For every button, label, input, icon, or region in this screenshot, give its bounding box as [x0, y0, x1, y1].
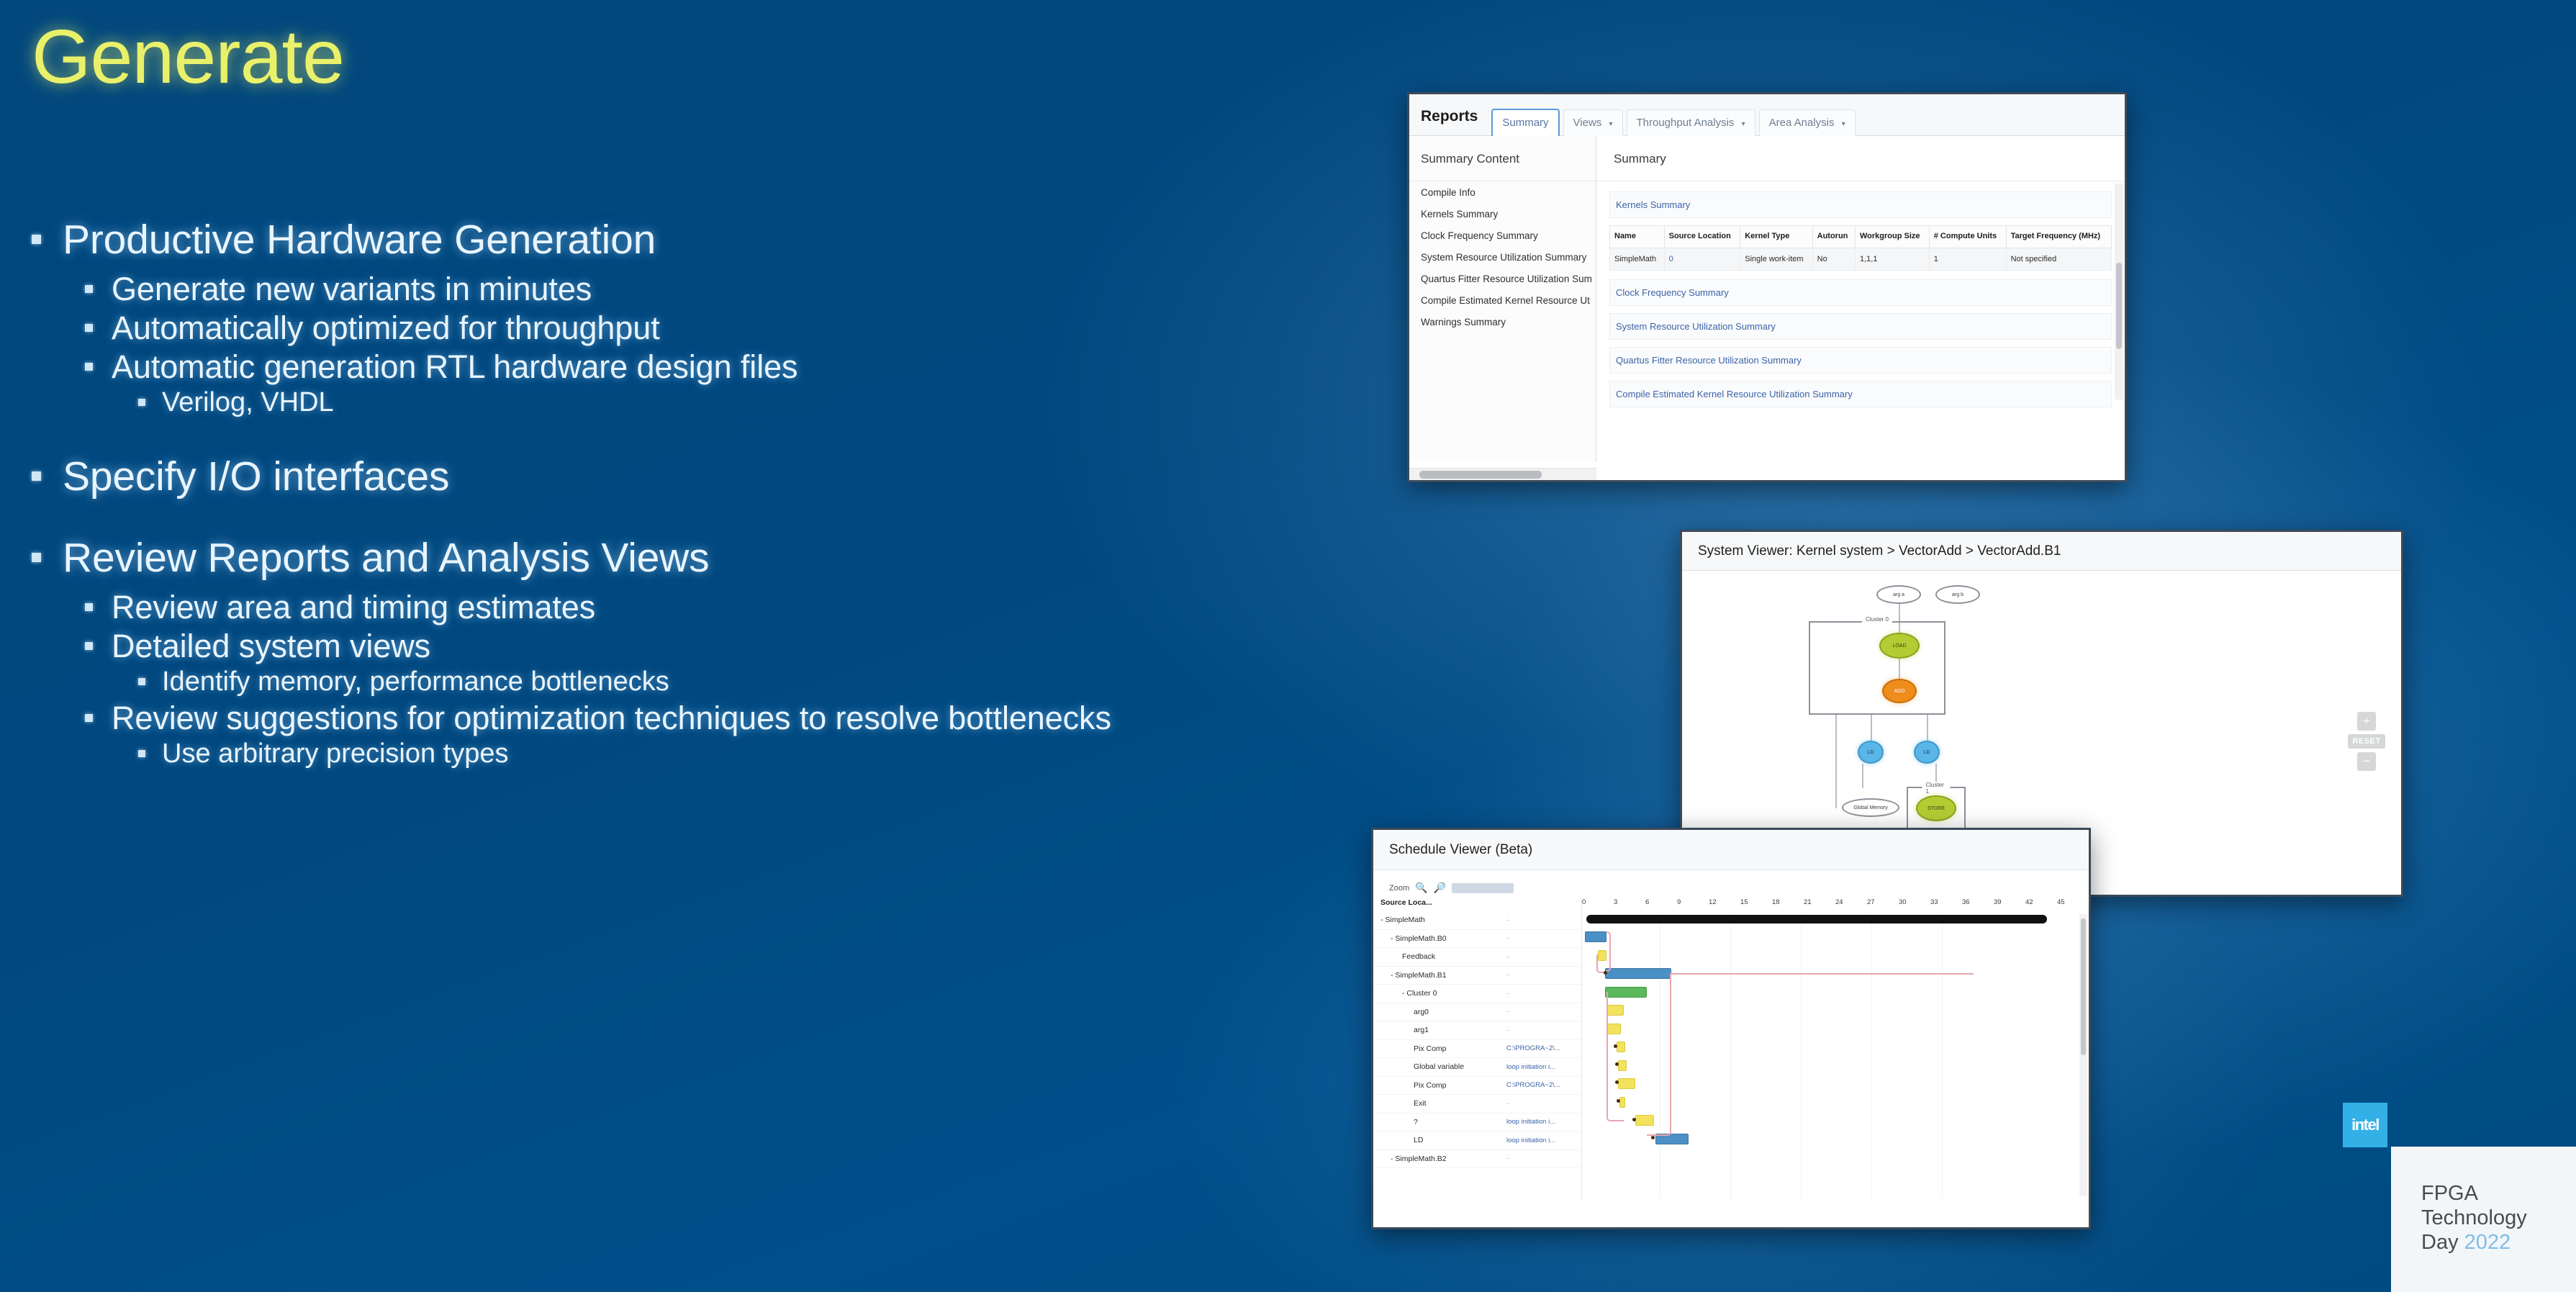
- zoom-in-icon[interactable]: +: [2357, 712, 2376, 731]
- connector-dot: [1651, 1136, 1655, 1139]
- tick-label: 18: [1772, 898, 1804, 913]
- timeline-bar: [1586, 915, 2047, 923]
- system-viewer-header: System Viewer: Kernel system > VectorAdd…: [1682, 532, 2401, 571]
- chevron-down-icon: ▾: [1742, 120, 1745, 128]
- col-name: Name: [1610, 226, 1665, 248]
- edge: [1871, 715, 1872, 742]
- node-global-memory[interactable]: Global Memory: [1842, 798, 1899, 817]
- sidebar-item-clock-frequency-summary[interactable]: Clock Frequency Summary: [1409, 225, 1596, 246]
- connector-dot: [1614, 1044, 1617, 1048]
- bullet-square-icon: [138, 750, 145, 757]
- row-source: -: [1506, 934, 1581, 942]
- bullet-square-icon: [85, 285, 93, 293]
- col-workgroup-size: Workgroup Size: [1855, 226, 1929, 248]
- node-store[interactable]: STORE: [1916, 795, 1956, 821]
- gantt-bar[interactable]: [1585, 931, 1606, 942]
- row-source[interactable]: C:\PROGRA~2\...: [1506, 1044, 1581, 1052]
- summary-panel-content: Kernels Summary Name Source Location Ker…: [1596, 181, 2125, 407]
- brand-line-3: Day 2022: [2421, 1230, 2576, 1255]
- list-item[interactable]: arg0-: [1373, 1003, 1581, 1022]
- edge: [1927, 715, 1928, 742]
- edge: [1862, 764, 1863, 788]
- row-name: SimpleMath.B0: [1395, 934, 1446, 943]
- row-source: -: [1506, 1155, 1581, 1162]
- bullet-text: Review area and timing estimates: [112, 588, 595, 627]
- row-source: -: [1506, 1100, 1581, 1108]
- bullet-level2: Automatic generation RTL hardware design…: [32, 348, 1385, 387]
- bullet-level3: Identify memory, performance bottlenecks: [32, 666, 1385, 699]
- zoom-out-icon[interactable]: 🔎: [1434, 882, 1446, 894]
- brand-line-1: FPGA: [2421, 1181, 2576, 1206]
- schedule-viewer-window[interactable]: Schedule Viewer (Beta) Zoom 🔍 🔎 Source L…: [1371, 828, 2091, 1229]
- section-link-compile-estimated[interactable]: Compile Estimated Kernel Resource Utiliz…: [1609, 381, 2112, 407]
- list-item[interactable]: Pix CompC:\PROGRA~2\...: [1373, 1077, 1581, 1096]
- schedule-row-labels: Source Loca... - SimpleMath- - SimpleMat…: [1373, 898, 1582, 1199]
- tab-label: Summary: [1502, 117, 1548, 129]
- summary-content-sidebar: Summary Content Compile Info Kernels Sum…: [1409, 136, 1596, 461]
- schedule-vertical-scrollbar[interactable]: [2079, 914, 2087, 1196]
- reports-window[interactable]: Reports Summary Views ▾ Throughput Analy…: [1407, 92, 2127, 482]
- tick-label: 45: [2057, 898, 2089, 913]
- tick-label: 9: [1677, 898, 1709, 913]
- list-item[interactable]: Pix CompC:\PROGRA~2\...: [1373, 1040, 1581, 1059]
- reset-button[interactable]: RESET: [2348, 734, 2385, 749]
- spacer: [32, 264, 1385, 270]
- list-item[interactable]: ?loop initiation i...: [1373, 1113, 1581, 1132]
- cell-autorun: No: [1812, 248, 1855, 270]
- brand-line-2: Technology: [2421, 1206, 2576, 1230]
- tab-summary[interactable]: Summary: [1491, 109, 1559, 136]
- sidebar-header: Summary Content: [1409, 136, 1596, 181]
- section-link-quartus-fitter[interactable]: Quartus Fitter Resource Utilization Summ…: [1609, 347, 2112, 374]
- row-name: Pix Comp: [1414, 1081, 1447, 1090]
- connector-dot: [1617, 1099, 1620, 1103]
- cluster-label: Cluster 1: [1922, 782, 1951, 795]
- tick-label: 33: [1930, 898, 1962, 913]
- cell-target-frequency: Not specified: [2006, 248, 2111, 270]
- sidebar-item-system-resource-utilization[interactable]: System Resource Utilization Summary: [1409, 246, 1596, 268]
- kernels-summary-table: Name Source Location Kernel Type Autorun…: [1609, 225, 2112, 271]
- intel-logo-mark: intel: [2351, 1116, 2379, 1134]
- tick-label: 30: [1899, 898, 1930, 913]
- node-ld-2[interactable]: LD: [1914, 741, 1940, 764]
- bullet-square-icon: [138, 399, 145, 406]
- tab-views[interactable]: Views ▾: [1563, 109, 1623, 136]
- bullet-level3: Use arbitrary precision types: [32, 738, 1385, 771]
- zoom-slider[interactable]: [1452, 883, 1514, 893]
- bullet-text: Detailed system views: [112, 627, 430, 666]
- row-name: Exit: [1414, 1099, 1427, 1108]
- bullet-text: Review suggestions for optimization tech…: [112, 699, 1111, 738]
- connector-dot: [1615, 1080, 1619, 1084]
- cell-name: SimpleMath: [1610, 248, 1665, 270]
- list-item[interactable]: - SimpleMath.B2-: [1373, 1150, 1581, 1169]
- tick-label: 27: [1867, 898, 1899, 913]
- event-brand-card: FPGA Technology Day 2022: [2391, 1147, 2576, 1292]
- bullet-level1: Specify I/O interfaces: [32, 453, 1385, 501]
- cell-compute-units: 1: [1929, 248, 2006, 270]
- section-kernels-summary[interactable]: Kernels Summary: [1609, 191, 2112, 218]
- node-add[interactable]: ADD: [1882, 679, 1917, 703]
- panel-title: Schedule Viewer (Beta): [1389, 842, 1532, 858]
- table-header-row: Name Source Location Kernel Type Autorun…: [1610, 226, 2112, 248]
- gridline: [1871, 913, 1872, 1199]
- bullet-square-icon: [32, 235, 41, 244]
- connector-dot: [1632, 1118, 1636, 1121]
- bullet-text: Review Reports and Analysis Views: [63, 534, 709, 582]
- list-item[interactable]: Feedback-: [1373, 948, 1581, 967]
- row-name: arg1: [1414, 1026, 1429, 1034]
- row-name: ?: [1414, 1118, 1418, 1126]
- sidebar-item-compile-info[interactable]: Compile Info: [1409, 181, 1596, 203]
- tree-toggle-icon[interactable]: -: [1391, 1155, 1393, 1163]
- row-source: -: [1506, 1026, 1581, 1034]
- tab-area-analysis[interactable]: Area Analysis ▾: [1759, 109, 1856, 136]
- row-name: Pix Comp: [1414, 1044, 1447, 1053]
- chevron-down-icon: ▾: [1609, 120, 1612, 128]
- tree-toggle-icon[interactable]: -: [1391, 934, 1393, 943]
- col-autorun: Autorun: [1812, 226, 1855, 248]
- bullet-square-icon: [85, 603, 93, 611]
- bullet-square-icon: [32, 553, 41, 562]
- sidebar-item-quartus-fitter-resource[interactable]: Quartus Fitter Resource Utilization Sum: [1409, 268, 1596, 289]
- tick-label: 6: [1645, 898, 1677, 913]
- bullet-square-icon: [85, 642, 93, 650]
- connector: [1606, 992, 1624, 1121]
- sidebar-item-kernels-summary[interactable]: Kernels Summary: [1409, 203, 1596, 225]
- bullet-text: Generate new variants in minutes: [112, 270, 592, 309]
- page-title: Generate: [32, 17, 344, 97]
- bullet-square-icon: [85, 324, 93, 332]
- list-item[interactable]: arg1-: [1373, 1021, 1581, 1040]
- list-item[interactable]: Exit-: [1373, 1095, 1581, 1113]
- cell-source-location[interactable]: 0: [1664, 248, 1740, 270]
- row-name: Cluster 0: [1406, 989, 1437, 998]
- row-source[interactable]: loop initiation i...: [1506, 1137, 1581, 1144]
- brand-year: 2022: [2464, 1231, 2511, 1254]
- zoom-label: Zoom: [1389, 884, 1409, 893]
- tree-toggle-icon[interactable]: -: [1391, 971, 1393, 980]
- bullet-text: Verilog, VHDL: [162, 387, 334, 420]
- chevron-down-icon: ▾: [1842, 120, 1845, 128]
- node-arg-b[interactable]: arg b: [1935, 585, 1980, 604]
- gridline: [1730, 913, 1731, 1199]
- col-target-frequency: Target Frequency (MHz): [2006, 226, 2111, 248]
- tick-label: 0: [1582, 898, 1614, 913]
- schedule-viewer-header: Schedule Viewer (Beta): [1373, 830, 2089, 870]
- sidebar-item-warnings-summary[interactable]: Warnings Summary: [1409, 311, 1596, 333]
- node-label: Global Memory: [1853, 805, 1887, 810]
- tab-throughput-analysis[interactable]: Throughput Analysis ▾: [1627, 109, 1755, 136]
- list-item[interactable]: - SimpleMath.B0-: [1373, 930, 1581, 949]
- reports-tabbar: Reports Summary Views ▾ Throughput Analy…: [1409, 94, 2125, 136]
- bullet-text: Identify memory, performance bottlenecks: [162, 666, 669, 699]
- node-load[interactable]: LOAD: [1879, 633, 1920, 659]
- slide-canvas: Generate Productive Hardware Generation …: [0, 0, 2576, 1292]
- bullet-level1: Productive Hardware Generation: [32, 216, 1385, 264]
- tick-label: 36: [1962, 898, 1994, 913]
- schedule-axis-ticks: 0 3 6 9 12 15 18 21 24 27 30 33 36 39 42…: [1582, 898, 2089, 913]
- row-name: LD: [1414, 1136, 1423, 1144]
- schedule-zoom-toolbar[interactable]: Zoom 🔍 🔎: [1373, 870, 2089, 898]
- bullet-text: Automatic generation RTL hardware design…: [112, 348, 797, 387]
- bullet-level1: Review Reports and Analysis Views: [32, 534, 1385, 582]
- list-item[interactable]: Global variableloop initiation i...: [1373, 1058, 1581, 1077]
- tick-label: 3: [1614, 898, 1645, 913]
- connector: [1606, 931, 1611, 972]
- intel-logo: intel: [2343, 1103, 2387, 1147]
- node-label: LD: [1924, 750, 1930, 755]
- tree-toggle-icon[interactable]: -: [1402, 989, 1405, 998]
- bullet-level2: Review suggestions for optimization tech…: [32, 699, 1385, 738]
- row-name: SimpleMath.B2: [1395, 1155, 1446, 1163]
- bullet-level2: Detailed system views: [32, 627, 1385, 666]
- summary-panel: Summary Kernels Summary Name Source Loca…: [1596, 136, 2125, 461]
- bullet-level2: Generate new variants in minutes: [32, 270, 1385, 309]
- row-source[interactable]: loop initiation i...: [1506, 1063, 1581, 1071]
- reports-app-label: Reports: [1421, 108, 1488, 135]
- node-label: LOAD: [1892, 643, 1906, 649]
- row-source: -: [1506, 916, 1581, 924]
- brand-day-label: Day: [2421, 1231, 2464, 1254]
- connector: [1671, 973, 1974, 975]
- cell-kernel-type: Single work-item: [1740, 248, 1812, 270]
- bullet-text: Productive Hardware Generation: [63, 216, 656, 264]
- tab-label: Area Analysis: [1769, 117, 1835, 129]
- node-label: LD: [1868, 750, 1874, 755]
- tick-label: 15: [1740, 898, 1772, 913]
- tick-label: 12: [1709, 898, 1740, 913]
- reports-body: Summary Content Compile Info Kernels Sum…: [1409, 136, 2125, 461]
- zoom-out-icon[interactable]: −: [2357, 752, 2376, 771]
- tick-label: 24: [1835, 898, 1867, 913]
- row-source: -: [1506, 1008, 1581, 1016]
- cluster-label: Cluster 0: [1862, 616, 1892, 623]
- row-name: Global variable: [1414, 1062, 1464, 1071]
- row-name: Feedback: [1402, 952, 1435, 961]
- schedule-grid: Source Loca... - SimpleMath- - SimpleMat…: [1373, 898, 2089, 1199]
- tab-label: Throughput Analysis: [1637, 117, 1735, 129]
- list-item[interactable]: - Cluster 0-: [1373, 985, 1581, 1003]
- bullet-square-icon: [32, 471, 41, 481]
- row-source: -: [1506, 971, 1581, 979]
- row-name: SimpleMath: [1385, 916, 1424, 924]
- node-label: ADD: [1894, 689, 1905, 694]
- spacer: [32, 501, 1385, 534]
- col-kernel-type: Kernel Type: [1740, 226, 1812, 248]
- zoom-in-icon[interactable]: 🔍: [1415, 882, 1427, 894]
- breadcrumb: System Viewer: Kernel system > VectorAdd…: [1698, 543, 2061, 559]
- tick-label: 42: [2025, 898, 2057, 913]
- sidebar-item-compile-estimated-kernel[interactable]: Compile Estimated Kernel Resource Ut: [1409, 289, 1596, 311]
- edge: [1835, 715, 1837, 808]
- tab-label: Views: [1573, 117, 1602, 129]
- cell-workgroup-size: 1,1,1: [1855, 248, 1929, 270]
- node-ld-1[interactable]: LD: [1858, 741, 1884, 764]
- tick-label: 21: [1804, 898, 1835, 913]
- bullet-list: Productive Hardware Generation Generate …: [32, 216, 1385, 771]
- system-viewer-zoom-controls[interactable]: + RESET −: [2348, 712, 2385, 771]
- bullet-level2: Automatically optimized for throughput: [32, 309, 1385, 348]
- col-source-location: Source Location: [1664, 226, 1740, 248]
- connector-dot: [1615, 1062, 1619, 1066]
- list-item[interactable]: LDloop initiation i...: [1373, 1131, 1581, 1150]
- node-label: STORE: [1928, 806, 1945, 811]
- schedule-header-row: Source Loca...: [1373, 898, 1581, 911]
- spacer: [32, 582, 1385, 588]
- row-name: arg0: [1414, 1008, 1429, 1016]
- connector: [1647, 973, 1671, 1136]
- node-label: arg b: [1952, 592, 1963, 597]
- list-item[interactable]: - SimpleMath-: [1373, 911, 1581, 930]
- row-source[interactable]: C:\PROGRA~2\...: [1506, 1081, 1581, 1089]
- gridline: [1942, 913, 1943, 1199]
- sidebar-horizontal-scrollbar[interactable]: [1409, 468, 1596, 480]
- list-item[interactable]: - SimpleMath.B1-: [1373, 967, 1581, 985]
- schedule-gantt-chart[interactable]: 0 3 6 9 12 15 18 21 24 27 30 33 36 39 42…: [1582, 898, 2089, 1199]
- bullet-square-icon: [85, 714, 93, 722]
- bullet-level3: Verilog, VHDL: [32, 387, 1385, 420]
- table-row: SimpleMath 0 Single work-item No 1,1,1 1…: [1610, 248, 2112, 270]
- node-cluster-0[interactable]: Cluster 0: [1809, 621, 1945, 715]
- tick-label: 39: [1994, 898, 2025, 913]
- connector-dot: [1604, 971, 1607, 975]
- row-source: -: [1506, 990, 1581, 998]
- bullet-square-icon: [138, 678, 145, 685]
- row-source[interactable]: loop initiation i...: [1506, 1118, 1581, 1126]
- bullet-text: Specify I/O interfaces: [63, 453, 449, 501]
- col-source-location: Source Loca...: [1380, 898, 1432, 907]
- bullet-square-icon: [85, 363, 93, 371]
- summary-panel-header: Summary: [1596, 136, 2125, 181]
- col-compute-units: # Compute Units: [1929, 226, 2006, 248]
- summary-vertical-scrollbar[interactable]: [2115, 184, 2123, 399]
- bullet-text: Use arbitrary precision types: [162, 738, 509, 771]
- node-arg-a[interactable]: arg a: [1876, 585, 1921, 604]
- bullet-text: Automatically optimized for throughput: [112, 309, 660, 348]
- bullet-level2: Review area and timing estimates: [32, 588, 1385, 627]
- row-name: SimpleMath.B1: [1395, 971, 1446, 980]
- gridline: [1801, 913, 1802, 1199]
- section-link-clock-frequency[interactable]: Clock Frequency Summary: [1609, 279, 2112, 306]
- spacer: [32, 420, 1385, 453]
- tree-toggle-icon[interactable]: -: [1380, 916, 1383, 924]
- node-label: arg a: [1893, 592, 1904, 597]
- row-source: -: [1506, 953, 1581, 961]
- section-link-system-resource[interactable]: System Resource Utilization Summary: [1609, 313, 2112, 340]
